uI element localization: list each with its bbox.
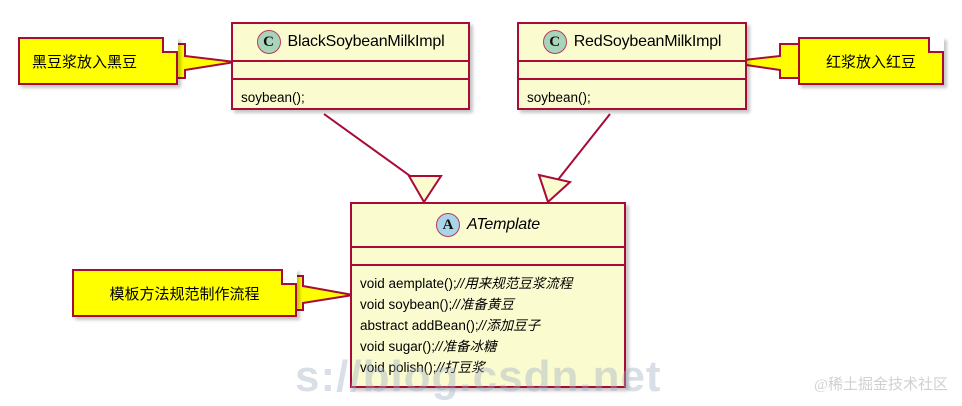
class-name: RedSoybeanMilkImpl: [574, 33, 722, 51]
class-operations-compartment: soybean();: [233, 80, 468, 112]
operation-signature: void aemplate();: [360, 276, 457, 291]
operation-row: soybean();: [241, 87, 460, 108]
operation-row: void aemplate();//用来规范豆浆流程: [360, 273, 616, 294]
class-attributes-compartment: [233, 62, 468, 80]
class-header: C BlackSoybeanMilkImpl: [233, 24, 468, 62]
operation-comment: //用来规范豆浆流程: [457, 276, 573, 291]
operation-row: abstract addBean();//添加豆子: [360, 315, 616, 336]
note-black-soybean: 黑豆浆放入黑豆: [18, 37, 178, 85]
note-fold-corner-icon: [928, 37, 944, 53]
class-attributes-compartment: [352, 248, 624, 266]
class-box-red-soybean-milk-impl[interactable]: C RedSoybeanMilkImpl soybean();: [517, 22, 747, 110]
class-header: C RedSoybeanMilkImpl: [519, 24, 745, 62]
operation-signature: void soybean();: [360, 297, 452, 312]
operation-comment: //添加豆子: [479, 318, 541, 333]
operation-signature: abstract addBean();: [360, 318, 479, 333]
operation-comment: //准备黄豆: [452, 297, 514, 312]
generalization-black-to-atemplate: [324, 114, 441, 202]
class-name: ATemplate: [467, 216, 540, 234]
note-text: 黑豆浆放入黑豆: [32, 51, 137, 72]
note-fold-corner-icon: [162, 37, 178, 53]
watermark-csdn: s://blog.csdn.net: [295, 352, 662, 402]
class-attributes-compartment: [519, 62, 745, 80]
class-header: A ATemplate: [352, 204, 624, 248]
generalization-red-to-atemplate: [539, 114, 610, 202]
note-text: 红浆放入红豆: [826, 51, 916, 72]
class-name: BlackSoybeanMilkImpl: [288, 33, 445, 51]
abstract-stereotype-icon: A: [436, 213, 460, 237]
operation-signature: soybean();: [527, 90, 591, 105]
diagram-canvas: 黑豆浆放入黑豆 红浆放入红豆 模板方法规范制作流程 C BlackSoybean…: [0, 0, 962, 406]
class-operations-compartment: soybean();: [519, 80, 745, 112]
class-stereotype-icon: C: [257, 30, 281, 54]
note-text: 模板方法规范制作流程: [109, 283, 259, 304]
note-template-method: 模板方法规范制作流程: [72, 269, 297, 317]
note-fold-corner-icon: [281, 269, 297, 285]
class-stereotype-icon: C: [543, 30, 567, 54]
operation-row: soybean();: [527, 87, 737, 108]
class-box-black-soybean-milk-impl[interactable]: C BlackSoybeanMilkImpl soybean();: [231, 22, 470, 110]
watermark-juejin: @稀土掘金技术社区: [814, 373, 948, 394]
operation-signature: soybean();: [241, 90, 305, 105]
operation-row: void soybean();//准备黄豆: [360, 294, 616, 315]
note-red-soybean: 红浆放入红豆: [798, 37, 944, 85]
